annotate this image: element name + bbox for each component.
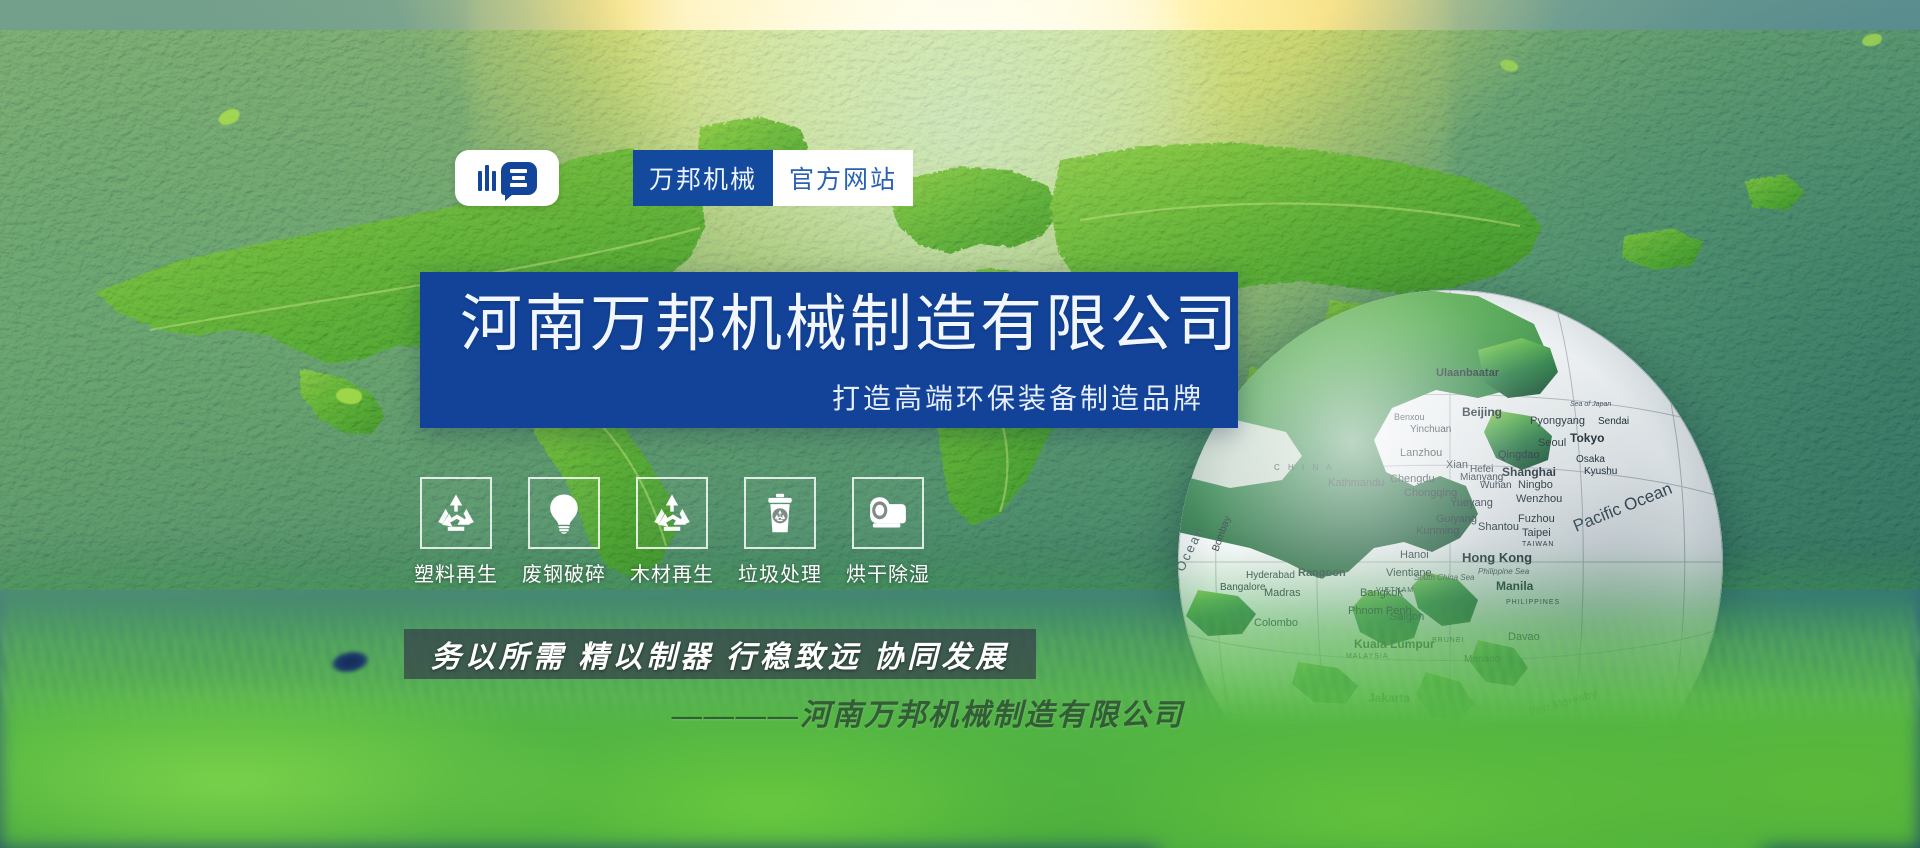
- trash-recycle-bin-icon: [758, 491, 802, 535]
- wb-monogram-icon[interactable]: [455, 150, 559, 206]
- hero-title-banner: 河南万邦机械制造有限公司 打造高端环保装备制造品牌: [420, 272, 1238, 428]
- slogan-text: 务以所需 精以制器 行稳致远 协同发展: [431, 632, 1010, 676]
- brand-bar: 万邦机械 官方网站: [455, 150, 913, 206]
- blower-dryer-icon: [866, 491, 910, 535]
- feature-item-scrap-steel-crushing[interactable]: 废钢破碎: [528, 477, 600, 587]
- feature-icon-box: [420, 477, 492, 549]
- feature-label: 垃圾处理: [738, 558, 822, 587]
- feature-label: 烘干除湿: [846, 558, 930, 587]
- brand-company-short: 万邦机械: [633, 150, 773, 206]
- feature-icon-box: [744, 477, 816, 549]
- feature-label: 木材再生: [630, 558, 714, 587]
- page-title: 河南万邦机械制造有限公司: [460, 286, 1240, 364]
- feature-label: 塑料再生: [414, 558, 498, 587]
- recycle-icon: [650, 491, 694, 535]
- feature-item-drying-dehumidifying[interactable]: 烘干除湿: [852, 477, 924, 587]
- feature-icon-box: [852, 477, 924, 549]
- feature-icon-box: [636, 477, 708, 549]
- feature-item-waste-processing[interactable]: 垃圾处理: [744, 477, 816, 587]
- lightbulb-icon: [542, 491, 586, 535]
- slogan-credit: ————河南万邦机械制造有限公司: [672, 690, 1232, 734]
- feature-icon-row: 塑料再生 废钢破碎: [420, 477, 924, 587]
- page-subtitle: 打造高端环保装备制造品牌: [832, 377, 1204, 417]
- slogan-bar: 务以所需 精以制器 行稳致远 协同发展: [404, 629, 1036, 679]
- logo-b-letter: [501, 162, 537, 195]
- feature-label: 废钢破碎: [522, 558, 606, 587]
- hero-banner: Ulaanbaatar Beijing Benxou Yinchuan Lanz…: [0, 0, 1920, 848]
- feature-item-plastic-recycling[interactable]: 塑料再生: [420, 477, 492, 587]
- brand-site-label: 官方网站: [773, 150, 913, 206]
- feature-icon-box: [528, 477, 600, 549]
- recycle-icon: [434, 491, 478, 535]
- logo-w-letter: [478, 165, 496, 191]
- feature-item-wood-recycling[interactable]: 木材再生: [636, 477, 708, 587]
